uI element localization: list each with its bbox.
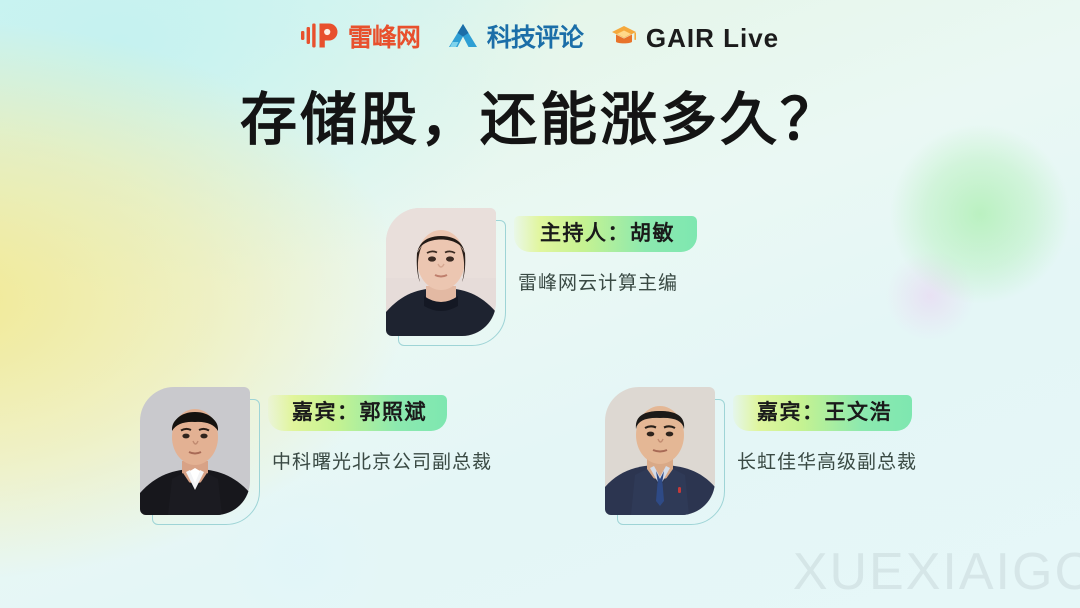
mountain-triangle-icon — [446, 23, 480, 54]
guest-1-photo-wrapper — [140, 387, 250, 515]
guest-1-role: 中科曙光北京公司副总裁 — [272, 447, 492, 474]
status-badge: 嘉宾：郭照斌 — [268, 395, 447, 431]
host-photo-wrapper — [386, 208, 496, 336]
page-title: 存储股，还能涨多久？ — [0, 88, 1080, 154]
avatar — [140, 387, 250, 515]
logo-leifengwang: 雷峰网 — [301, 22, 420, 54]
avatar — [605, 387, 715, 515]
person-card-guest-1: 嘉宾：郭照斌 中科曙光北京公司副总裁 — [140, 387, 492, 515]
graduation-cap-icon — [609, 22, 639, 54]
guest-2-photo-wrapper — [605, 387, 715, 515]
logo-bar: 雷峰网 科技评论 GAIR Live — [0, 22, 1080, 54]
logo-gair-live: GAIR Live — [609, 22, 779, 54]
avatar — [386, 208, 496, 336]
status-badge: 主持人：胡敏 — [514, 216, 697, 252]
watermark-text: XUEXIAIGC — [793, 542, 1080, 602]
host-role: 雷峰网云计算主编 — [518, 268, 697, 295]
guest-2-info: 嘉宾：王文浩 长虹佳华高级副总裁 — [733, 387, 917, 474]
guest-2-role: 长虹佳华高级副总裁 — [737, 447, 917, 474]
logo-kejipinglun: 科技评论 — [446, 23, 583, 54]
logo-kejipinglun-text: 科技评论 — [487, 26, 583, 51]
person-card-host: 主持人：胡敏 雷峰网云计算主编 — [386, 208, 697, 336]
host-info: 主持人：胡敏 雷峰网云计算主编 — [514, 208, 697, 295]
logo-leifengwang-text: 雷峰网 — [348, 26, 420, 51]
leifeng-bars-icon — [301, 22, 341, 54]
guest-1-info: 嘉宾：郭照斌 中科曙光北京公司副总裁 — [268, 387, 492, 474]
status-badge: 嘉宾：王文浩 — [733, 395, 912, 431]
person-card-guest-2: 嘉宾：王文浩 长虹佳华高级副总裁 — [605, 387, 917, 515]
logo-gair-live-text: GAIR Live — [646, 25, 779, 51]
webinar-poster: XUEXIAIGC 雷峰网 — [0, 0, 1080, 608]
